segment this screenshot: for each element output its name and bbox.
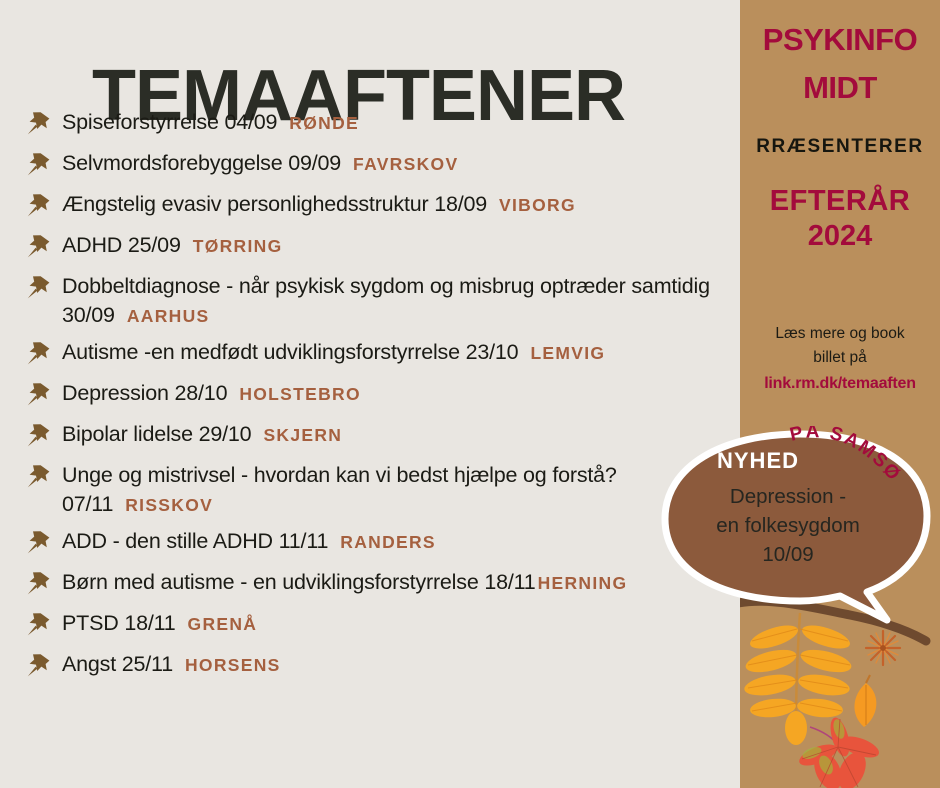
event-row[interactable]: Dobbeltdiagnose - når psykisk sygdom og … — [0, 272, 745, 329]
poster-canvas: PSYKINFO MIDT RRÆSENTERER EFTERÅR 2024 L… — [0, 0, 940, 788]
event-row[interactable]: Spiseforstyrrelse 04/09RØNDE — [0, 108, 745, 140]
pushpin-icon — [26, 529, 52, 555]
event-title: Autisme -en medfødt udviklingsforstyrrel… — [62, 340, 518, 364]
maple-leaf-icon — [796, 716, 881, 788]
pushpin-icon — [26, 340, 52, 366]
event-row[interactable]: Unge og mistrivsel - hvordan kan vi beds… — [0, 461, 745, 518]
event-city: TØRRING — [193, 236, 283, 256]
event-city: AARHUS — [127, 306, 210, 326]
pushpin-icon — [26, 274, 52, 300]
event-title: ADHD 25/09 — [62, 233, 181, 257]
pushpin-icon — [26, 463, 52, 489]
event-city: LEMVIG — [530, 343, 605, 363]
event-list: Spiseforstyrrelse 04/09RØNDESelvmordsfor… — [0, 108, 745, 691]
pushpin-icon — [26, 233, 52, 259]
brand-name-line2: MIDT — [740, 72, 940, 103]
pushpin-icon — [26, 611, 52, 637]
pushpin-icon — [26, 340, 52, 366]
booking-url-link[interactable]: link.rm.dk/temaaften — [742, 372, 938, 397]
pushpin-icon — [26, 422, 52, 448]
bubble-line-2: en folkesygdom — [673, 511, 903, 540]
pushpin-icon — [26, 570, 52, 596]
pushpin-icon — [26, 652, 52, 678]
booking-line-1: Læs mere og book — [775, 325, 904, 342]
event-city: RANDERS — [340, 532, 436, 552]
pushpin-icon — [26, 570, 52, 596]
season-label: EFTERÅR — [740, 185, 940, 217]
event-title: ADD - den stille ADHD 11/11 — [62, 529, 328, 553]
event-city: SKJERN — [263, 425, 342, 445]
event-city: FAVRSKOV — [353, 154, 458, 174]
event-title: Børn med autisme - en udviklingsforstyrr… — [62, 570, 536, 594]
event-city: GRENÅ — [188, 614, 258, 634]
pushpin-icon — [26, 110, 52, 136]
pushpin-icon — [26, 463, 52, 489]
event-title: Spiseforstyrrelse 04/09 — [62, 110, 277, 134]
event-city: HOLSTEBRO — [239, 384, 361, 404]
pushpin-icon — [26, 381, 52, 407]
event-title: Ængstelig evasiv personlighedsstruktur 1… — [62, 192, 487, 216]
pushpin-icon — [26, 529, 52, 555]
event-row[interactable]: Børn med autisme - en udviklingsforstyrr… — [0, 568, 745, 600]
pushpin-icon — [26, 233, 52, 259]
event-row[interactable]: PTSD 18/11GRENÅ — [0, 609, 745, 641]
pushpin-icon — [26, 381, 52, 407]
pushpin-icon — [26, 274, 52, 300]
event-row[interactable]: Selvmordsforebyggelse 09/09FAVRSKOV — [0, 149, 745, 181]
single-leaf-icon — [854, 675, 876, 727]
pushpin-icon — [26, 110, 52, 136]
event-row[interactable]: ADD - den stille ADHD 11/11RANDERS — [0, 527, 745, 559]
event-row[interactable]: Depression 28/10HOLSTEBRO — [0, 379, 745, 411]
event-row[interactable]: Bipolar lidelse 29/10SKJERN — [0, 420, 745, 452]
event-row[interactable]: ADHD 25/09TØRRING — [0, 231, 745, 263]
pushpin-icon — [26, 652, 52, 678]
event-city: RØNDE — [289, 113, 359, 133]
event-row[interactable]: Autisme -en medfødt udviklingsforstyrrel… — [0, 338, 745, 370]
event-title: PTSD 18/11 — [62, 611, 176, 635]
event-city: RISSKOV — [125, 495, 213, 515]
booking-line-2: billet på — [813, 349, 866, 366]
event-title: Depression 28/10 — [62, 381, 227, 405]
event-title: Selvmordsforebyggelse 09/09 — [62, 151, 341, 175]
event-row[interactable]: Ængstelig evasiv personlighedsstruktur 1… — [0, 190, 745, 222]
event-title: Angst 25/11 — [62, 652, 173, 676]
event-city: VIBORG — [499, 195, 576, 215]
event-city: HORSENS — [185, 655, 281, 675]
event-title: Bipolar lidelse 29/10 — [62, 422, 251, 446]
pushpin-icon — [26, 151, 52, 177]
booking-info: Læs mere og book billet på link.rm.dk/te… — [742, 322, 938, 397]
event-city: HERNING — [538, 573, 628, 593]
star-seedpod-icon — [866, 631, 900, 665]
event-row[interactable]: Angst 25/11HORSENS — [0, 650, 745, 682]
pushpin-icon — [26, 192, 52, 218]
news-speech-bubble: NYHED PÅ SAMSØ Depression - en folkesygd… — [655, 424, 940, 634]
presents-label: RRÆSENTERER — [740, 136, 940, 158]
pushpin-icon — [26, 151, 52, 177]
brand-name-line1: PSYKINFO — [740, 24, 940, 55]
pushpin-icon — [26, 611, 52, 637]
pa-samso-arc-text: PÅ SAMSØ — [785, 426, 925, 506]
svg-text:PÅ SAMSØ: PÅ SAMSØ — [788, 426, 905, 486]
bubble-line-3: 10/09 — [673, 540, 903, 569]
pushpin-icon — [26, 192, 52, 218]
pushpin-icon — [26, 422, 52, 448]
year-label: 2024 — [740, 220, 940, 253]
